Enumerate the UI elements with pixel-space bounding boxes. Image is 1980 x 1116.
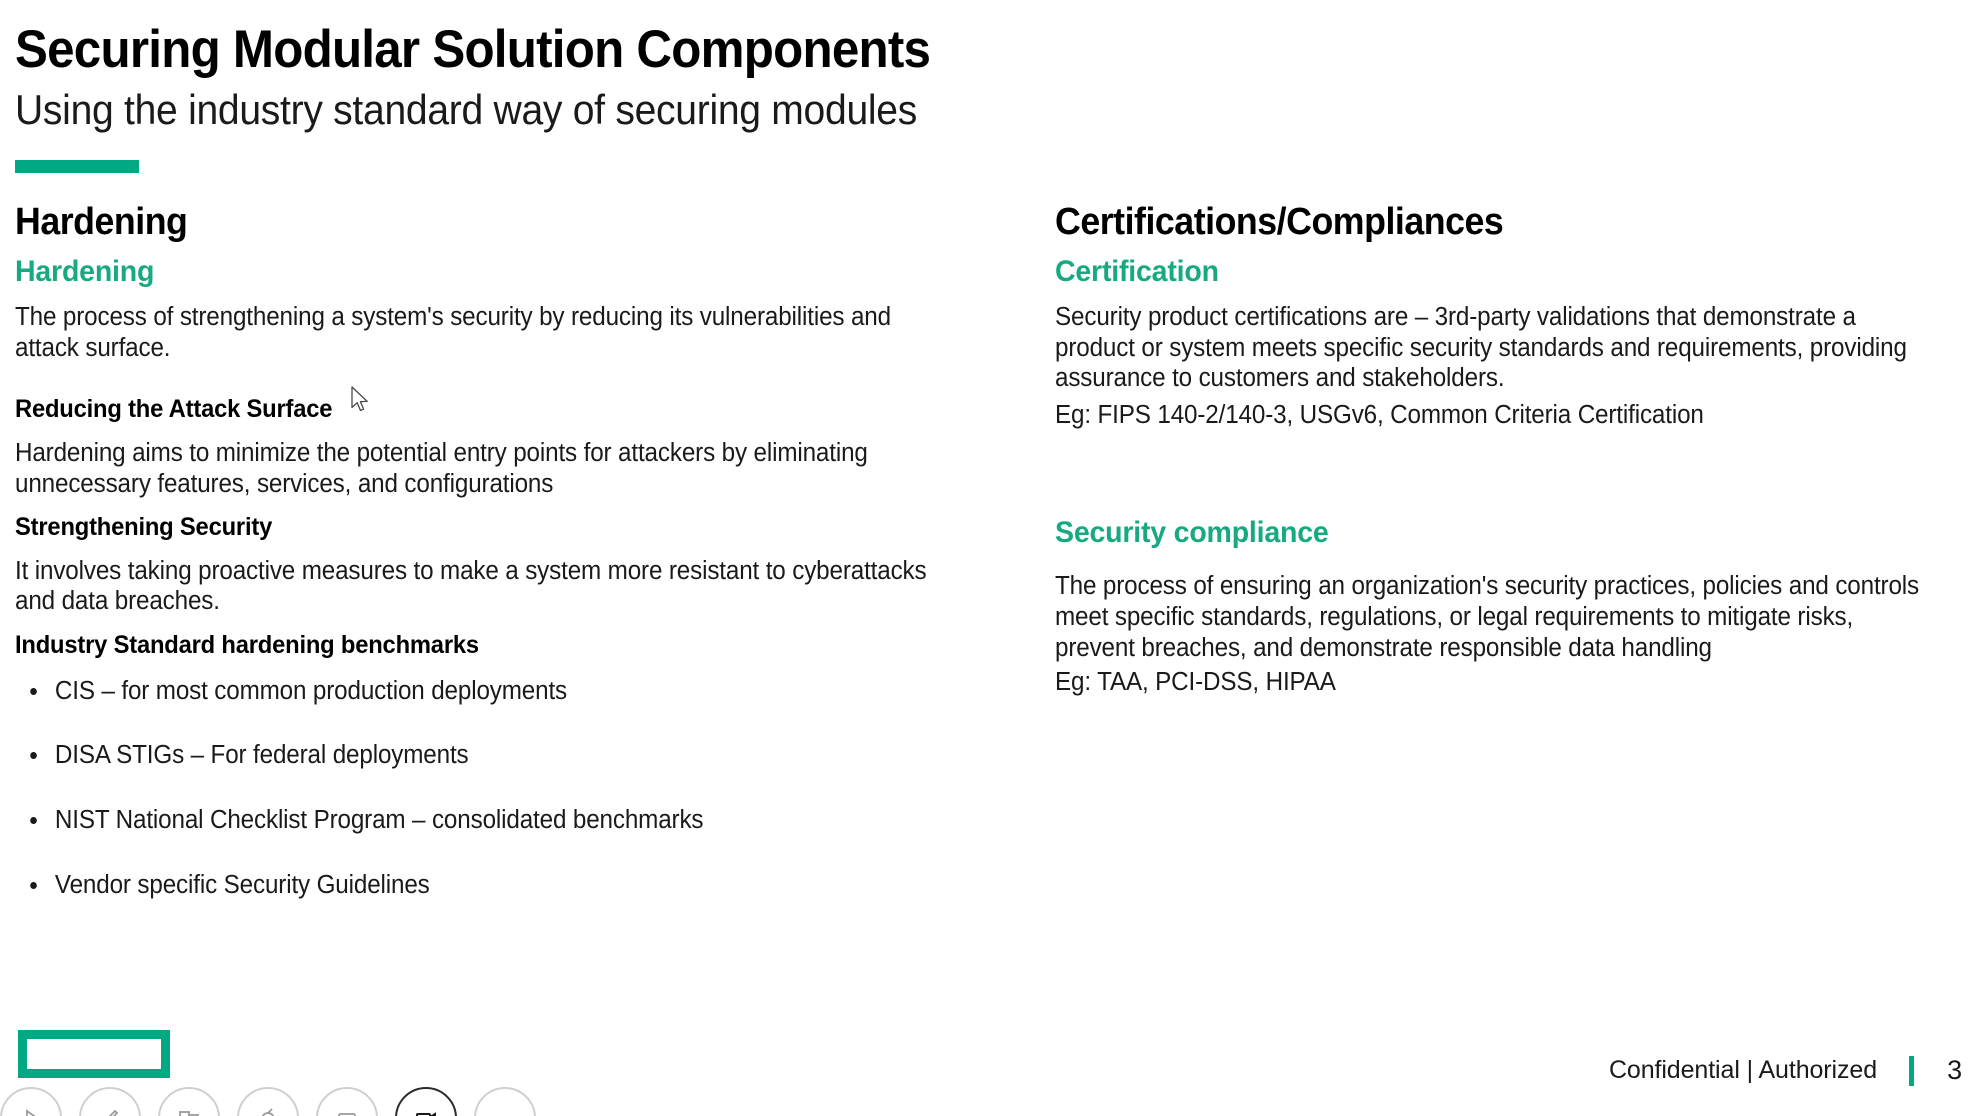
example-security-compliance: Eg: TAA, PCI-DSS, HIPAA: [1055, 667, 1920, 698]
slide-notes-icon[interactable]: [158, 1087, 220, 1116]
slide-header: Securing Modular Solution Components Usi…: [15, 22, 1915, 133]
footer: Confidential | Authorized 3: [1609, 1055, 1962, 1086]
body-strengthening-security: It involves taking proactive measures to…: [15, 556, 927, 617]
laser-pointer-icon[interactable]: [0, 1087, 62, 1116]
sub-heading-industry-standard-benchmarks: Industry Standard hardening benchmarks: [15, 631, 927, 660]
footer-divider: [1909, 1056, 1914, 1086]
body-security-compliance: The process of ensuring an organization'…: [1055, 571, 1920, 663]
left-intro-text: The process of strengthening a system's …: [15, 302, 927, 363]
hpe-logo: [18, 1030, 170, 1078]
subtitles-icon[interactable]: [316, 1087, 378, 1116]
accent-bar: [15, 160, 139, 173]
list-item: Vendor specific Security Guidelines: [15, 870, 927, 901]
left-column-heading: Hardening: [15, 203, 917, 241]
classification-label: Confidential | Authorized: [1609, 1056, 1877, 1085]
list-item: DISA STIGs – For federal deployments: [15, 740, 927, 771]
list-item: CIS – for most common production deploym…: [15, 676, 927, 707]
right-section-heading-security-compliance: Security compliance: [1055, 516, 1920, 549]
highlighter-icon[interactable]: [237, 1087, 299, 1116]
left-column: Hardening Hardening The process of stren…: [15, 203, 975, 934]
presentation-toolbar[interactable]: [0, 1087, 536, 1116]
sub-heading-strengthening-security: Strengthening Security: [15, 513, 927, 542]
page-title: Securing Modular Solution Components: [15, 22, 1782, 78]
benchmarks-list: CIS – for most common production deploym…: [15, 676, 975, 900]
camera-icon[interactable]: [395, 1087, 457, 1116]
pen-icon[interactable]: [79, 1087, 141, 1116]
right-section-heading-certification: Certification: [1055, 255, 1920, 288]
right-column: Certifications/Compliances Certification…: [1055, 203, 1965, 698]
example-certification: Eg: FIPS 140-2/140-3, USGv6, Common Crit…: [1055, 400, 1920, 431]
right-column-heading: Certifications/Compliances: [1055, 203, 1910, 241]
body-certification: Security product certifications are – 3r…: [1055, 302, 1920, 394]
page-subtitle: Using the industry standard way of secur…: [15, 86, 1782, 133]
more-options-icon[interactable]: [474, 1087, 536, 1116]
presentation-slide: Securing Modular Solution Components Usi…: [0, 0, 1980, 1116]
sub-heading-reducing-attack-surface: Reducing the Attack Surface: [15, 395, 927, 424]
list-item: NIST National Checklist Program – consol…: [15, 805, 927, 836]
page-number: 3: [1942, 1055, 1962, 1086]
body-reducing-attack-surface: Hardening aims to minimize the potential…: [15, 438, 927, 499]
left-section-heading-hardening: Hardening: [15, 255, 927, 288]
